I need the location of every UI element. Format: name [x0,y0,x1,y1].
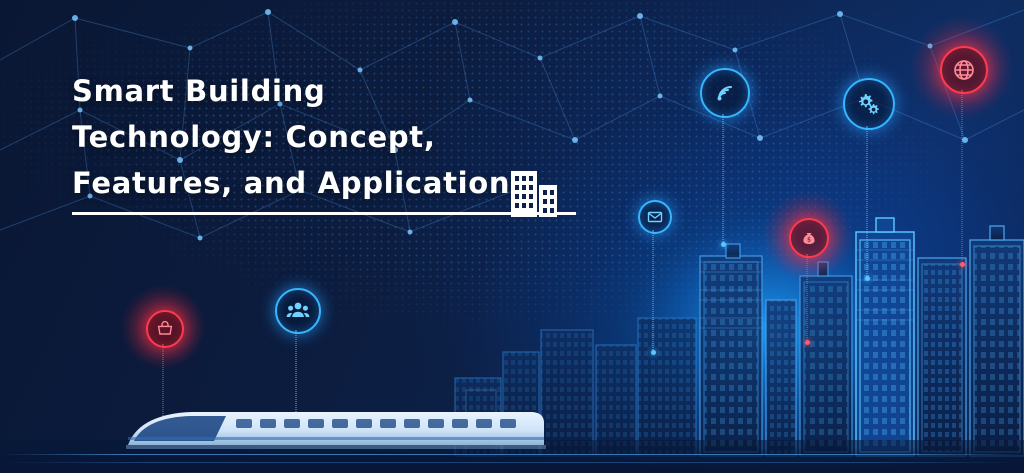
title-underline [72,212,576,215]
basket-glyph [156,320,174,338]
envelope-glyph [647,209,663,225]
rail-line-2 [0,462,1024,463]
pin-gears[interactable] [843,78,891,126]
shopping-basket-icon[interactable] [146,310,184,348]
wifi-glyph [713,81,737,105]
globe-glyph [952,58,976,82]
wifi-signal-icon[interactable] [700,68,750,118]
office-building-icon [503,165,563,217]
banner-image: Smart Building Technology: Concept, Feat… [0,0,1024,473]
gears-glyph [856,91,882,117]
money-bag-glyph: $ [800,229,818,247]
title-line-2: Technology: Concept, [72,114,592,160]
pin-users[interactable] [275,288,317,330]
pin-wifi[interactable] [700,68,746,114]
users-group-icon[interactable] [275,288,321,334]
globe-network-icon[interactable] [940,46,988,94]
pin-money[interactable]: $ [789,218,825,254]
email-envelope-icon[interactable] [638,200,672,234]
svg-text:$: $ [807,237,811,244]
pin-globe[interactable] [940,46,984,90]
pin-basket[interactable] [146,310,180,344]
gears-settings-icon[interactable] [843,78,895,130]
pin-email[interactable] [638,200,668,230]
high-speed-train [126,407,546,461]
users-glyph [286,300,310,322]
money-bag-icon[interactable]: $ [789,218,829,258]
title-line-1: Smart Building [72,68,592,114]
